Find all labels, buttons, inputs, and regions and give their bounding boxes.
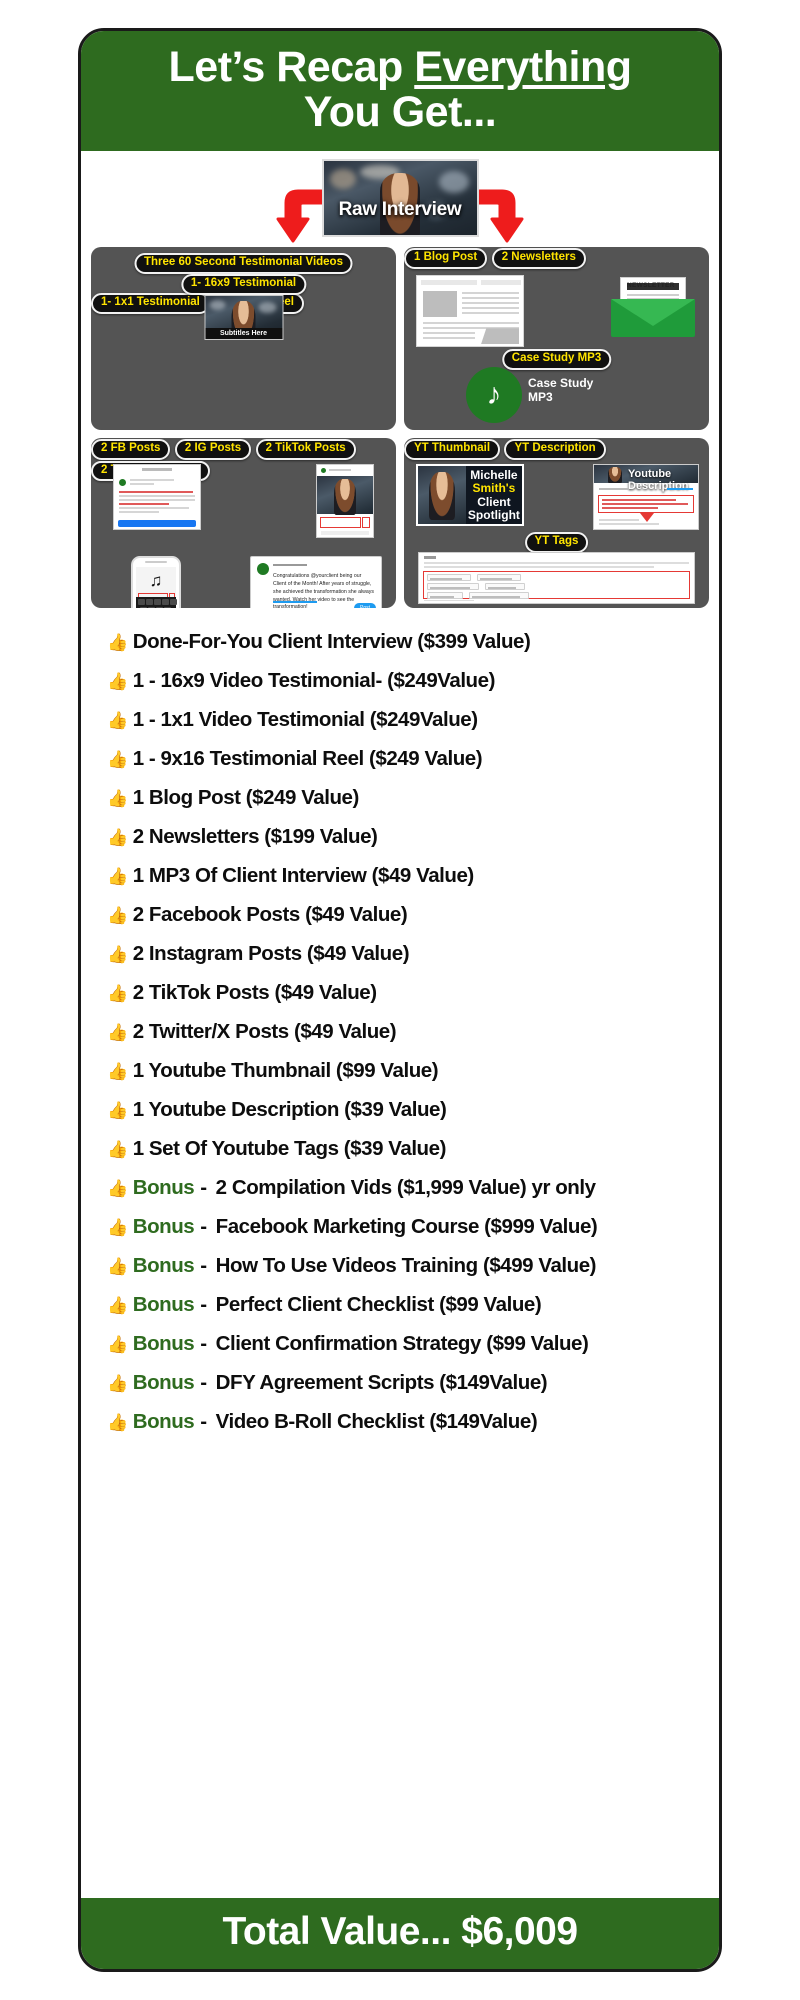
thumbs-up-icon: 👍 xyxy=(107,1052,128,1091)
caption-mp3: MP3 xyxy=(528,391,593,405)
tweet-post-button[interactable]: Post xyxy=(354,603,376,608)
list-item: 👍2 Newsletters ($199 Value) xyxy=(107,817,705,856)
list-item: 👍Bonus-DFY Agreement Scripts ($149Value) xyxy=(107,1363,705,1402)
list-item: 👍1 - 9x16 Testimonial Reel ($249 Value) xyxy=(107,739,705,778)
thumbs-up-icon: 👍 xyxy=(107,1208,128,1247)
list-item-label: 1 - 9x16 Testimonial Reel ($249 Value) xyxy=(133,739,482,778)
thumbs-up-icon: 👍 xyxy=(107,896,128,935)
music-note-icon: ♪ xyxy=(487,380,502,410)
instagram-post-mockup xyxy=(316,464,374,538)
thumbs-up-icon: 👍 xyxy=(107,1130,128,1169)
bonus-dash: - xyxy=(200,1324,206,1363)
thumbs-up-icon: 👍 xyxy=(107,1169,128,1208)
bonus-dash: - xyxy=(200,1402,206,1441)
newsletter-envelope-icon: NEWSLETTER xyxy=(611,277,695,337)
tag-2-ig-posts: 2 IG Posts xyxy=(175,439,251,459)
title-line1-plain: Let’s Recap xyxy=(169,43,415,91)
list-item: 👍1 Blog Post ($249 Value) xyxy=(107,778,705,817)
tag-yt-thumbnail: YT Thumbnail xyxy=(404,439,500,459)
caption-case-study: Case Study xyxy=(528,377,593,391)
list-item: 👍1 Youtube Thumbnail ($99 Value) xyxy=(107,1051,705,1090)
youtube-description-mockup: Youtube Description xyxy=(593,464,699,530)
header-banner: Let’s Recap Everything You Get... xyxy=(81,31,719,151)
bonus-label: Bonus xyxy=(133,1168,195,1207)
list-item-label: Video B-Roll Checklist ($149Value) xyxy=(216,1402,538,1441)
list-item: 👍Bonus-Video B-Roll Checklist ($149Value… xyxy=(107,1402,705,1441)
thumbs-up-icon: 👍 xyxy=(107,1403,128,1442)
thumbs-up-icon: 👍 xyxy=(107,935,128,974)
list-item: 👍2 Twitter/X Posts ($49 Value) xyxy=(107,1012,705,1051)
list-item-label: 1 Youtube Description ($39 Value) xyxy=(133,1090,447,1129)
list-item-label: Done-For-You Client Interview ($399 Valu… xyxy=(133,622,531,661)
tags-header xyxy=(424,556,436,559)
thumbs-up-icon: 👍 xyxy=(107,1286,128,1325)
thumbs-up-icon: 👍 xyxy=(107,701,128,740)
raw-interview-label: Raw Interview xyxy=(324,199,477,221)
list-item: 👍Bonus-2 Compilation Vids ($1,999 Value)… xyxy=(107,1168,705,1207)
list-item: 👍1 MP3 Of Client Interview ($49 Value) xyxy=(107,856,705,895)
thumb-line-4: Spotlight xyxy=(468,509,520,522)
list-item: 👍1 - 1x1 Video Testimonial ($249Value) xyxy=(107,700,705,739)
tag-yt-tags: YT Tags xyxy=(525,532,589,552)
thumbs-up-icon: 👍 xyxy=(107,1013,128,1052)
bonus-dash: - xyxy=(200,1363,206,1402)
list-item: 👍Bonus-How To Use Videos Training ($499 … xyxy=(107,1246,705,1285)
list-item-label: 2 Compilation Vids ($1,999 Value) yr onl… xyxy=(216,1168,596,1207)
list-item: 👍Bonus-Client Confirmation Strategy ($99… xyxy=(107,1324,705,1363)
bonus-dash: - xyxy=(200,1246,206,1285)
list-item: 👍2 Instagram Posts ($49 Value) xyxy=(107,934,705,973)
facebook-post-mockup xyxy=(113,464,201,530)
tiktok-note-icon: ♫ xyxy=(146,571,166,591)
tag-2-tiktok-posts: 2 TikTok Posts xyxy=(256,439,356,459)
thumbs-up-icon: 👍 xyxy=(107,779,128,818)
raw-interview-thumbnail: Raw Interview xyxy=(322,159,479,237)
page-title: Let’s Recap Everything You Get... xyxy=(91,45,709,135)
list-item-label: 2 Instagram Posts ($49 Value) xyxy=(133,934,409,973)
tag-2-newsletters: 2 Newsletters xyxy=(492,248,586,268)
recap-card: Let’s Recap Everything You Get... Raw In… xyxy=(78,28,722,1972)
caption-subtitles-here: Subtitles Here xyxy=(205,328,282,339)
blog-post-mockup xyxy=(416,275,524,347)
list-item: 👍1 Set Of Youtube Tags ($39 Value) xyxy=(107,1129,705,1168)
thumb-line-1: Michelle xyxy=(470,469,517,482)
list-item: 👍Bonus-Facebook Marketing Course ($999 V… xyxy=(107,1207,705,1246)
thumbs-up-icon: 👍 xyxy=(107,1247,128,1286)
footer-banner: Total Value... $6,009 xyxy=(81,1898,719,1969)
tag-three-60-second-videos: Three 60 Second Testimonial Videos xyxy=(134,253,353,273)
thumbs-up-icon: 👍 xyxy=(107,740,128,779)
list-item-label: 1 Set Of Youtube Tags ($39 Value) xyxy=(133,1129,446,1168)
tag-1-blog-post: 1 Blog Post xyxy=(404,248,487,268)
thumbs-up-icon: 👍 xyxy=(107,1325,128,1364)
list-item-label: 2 Newsletters ($199 Value) xyxy=(133,817,378,856)
list-item-label: Perfect Client Checklist ($99 Value) xyxy=(216,1285,542,1324)
list-item-label: 1 - 16x9 Video Testimonial- ($249Value) xyxy=(133,661,495,700)
list-item: 👍1 - 16x9 Video Testimonial- ($249Value) xyxy=(107,661,705,700)
benefits-list: 👍Done-For-You Client Interview ($399 Val… xyxy=(81,616,719,1898)
list-item-label: 2 Facebook Posts ($49 Value) xyxy=(133,895,408,934)
thumbs-up-icon: 👍 xyxy=(107,623,128,662)
list-item-label: Client Confirmation Strategy ($99 Value) xyxy=(216,1324,589,1363)
panel-blog-newsletter-mp3: 1 Blog Post 2 Newsletters xyxy=(404,247,709,430)
list-item-label: How To Use Videos Training ($499 Value) xyxy=(216,1246,596,1285)
caption-newsletter: NEWSLETTER xyxy=(627,282,675,289)
tag-16x9-testimonial: 1- 16x9 Testimonial xyxy=(181,274,306,294)
title-line1-underlined: Everything xyxy=(414,43,631,91)
panel-youtube-assets: YT Thumbnail YT Description Michelle Smi… xyxy=(404,438,709,608)
bonus-label: Bonus xyxy=(133,1402,195,1441)
thumb-line-2: Smith's xyxy=(472,482,515,495)
bonus-label: Bonus xyxy=(133,1246,195,1285)
asset-panels: Three 60 Second Testimonial Videos 1- 16… xyxy=(81,245,719,616)
bonus-label: Bonus xyxy=(133,1285,195,1324)
youtube-thumbnail-mockup: Michelle Smith's Client Spotlight xyxy=(416,464,524,526)
list-item-label: DFY Agreement Scripts ($149Value) xyxy=(216,1363,548,1402)
diagram-top: Raw Interview xyxy=(81,151,719,245)
mp3-circle-icon: ♪ xyxy=(466,367,522,423)
total-value: Total Value... $6,009 xyxy=(81,1910,719,1954)
thumbs-up-icon: 👍 xyxy=(107,662,128,701)
thumbs-up-icon: 👍 xyxy=(107,818,128,857)
list-item: 👍1 Youtube Description ($39 Value) xyxy=(107,1090,705,1129)
thumbs-up-icon: 👍 xyxy=(107,974,128,1013)
bonus-label: Bonus xyxy=(133,1324,195,1363)
list-item: 👍Done-For-You Client Interview ($399 Val… xyxy=(107,622,705,661)
tag-1x1-testimonial: 1- 1x1 Testimonial xyxy=(91,293,210,313)
list-item-label: 1 MP3 Of Client Interview ($49 Value) xyxy=(133,856,474,895)
list-item: 👍Bonus-Perfect Client Checklist ($99 Val… xyxy=(107,1285,705,1324)
title-line2: You Get... xyxy=(91,90,709,135)
list-item-label: 1 Blog Post ($249 Value) xyxy=(133,778,359,817)
list-item-label: Facebook Marketing Course ($999 Value) xyxy=(216,1207,598,1246)
thumbs-up-icon: 👍 xyxy=(107,1364,128,1403)
tag-2-fb-posts: 2 FB Posts xyxy=(91,439,170,459)
thumbs-up-icon: 👍 xyxy=(107,857,128,896)
list-item: 👍2 Facebook Posts ($49 Value) xyxy=(107,895,705,934)
panel-social-posts: 2 FB Posts 2 IG Posts xyxy=(91,438,396,608)
bonus-label: Bonus xyxy=(133,1207,195,1246)
twitter-post-mockup: Congratulations @yourclient being our Cl… xyxy=(250,556,382,608)
list-item-label: 2 TikTok Posts ($49 Value) xyxy=(133,973,377,1012)
list-item: 👍2 TikTok Posts ($49 Value) xyxy=(107,973,705,1012)
list-item-label: 1 Youtube Thumbnail ($99 Value) xyxy=(133,1051,438,1090)
thumbs-up-icon: 👍 xyxy=(107,1091,128,1130)
bonus-dash: - xyxy=(200,1168,206,1207)
bonus-dash: - xyxy=(200,1207,206,1246)
tag-case-study-mp3: Case Study MP3 xyxy=(502,349,611,369)
bonus-dash: - xyxy=(200,1285,206,1324)
thumb-line-3: Client xyxy=(477,496,510,509)
tiktok-phone-mockup: ♫ xyxy=(131,556,181,608)
youtube-tags-mockup xyxy=(418,552,695,604)
list-item-label: 2 Twitter/X Posts ($49 Value) xyxy=(133,1012,396,1051)
panel-testimonial-videos: Three 60 Second Testimonial Videos 1- 16… xyxy=(91,247,396,430)
thumb-16x9: Subtitles Here xyxy=(204,295,283,340)
bonus-label: Bonus xyxy=(133,1363,195,1402)
list-item-label: 1 - 1x1 Video Testimonial ($249Value) xyxy=(133,700,478,739)
tag-yt-description: YT Description xyxy=(504,439,605,459)
